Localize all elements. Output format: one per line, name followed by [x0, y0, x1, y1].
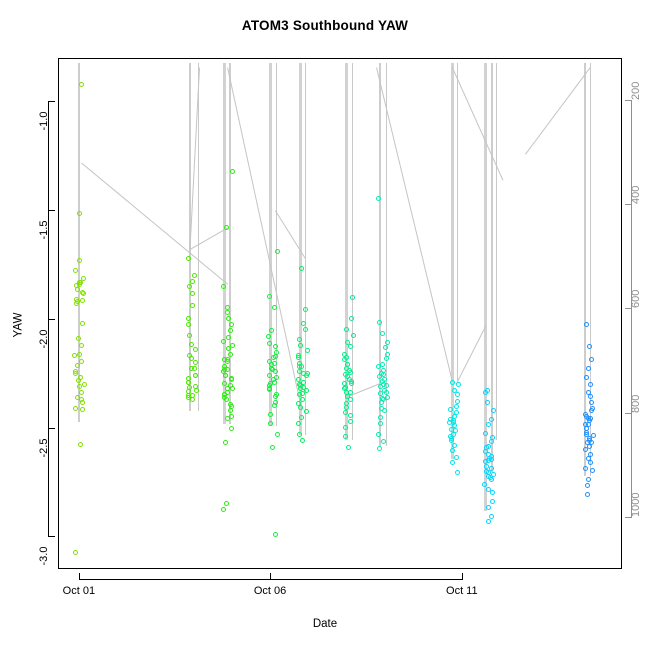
scatter-point — [275, 432, 280, 437]
scatter-point — [80, 298, 85, 303]
y-axis-right-tick-label: 400 — [616, 164, 650, 204]
scatter-point — [273, 532, 278, 537]
scatter-point — [186, 322, 191, 327]
scatter-point — [296, 355, 301, 360]
scatter-point — [348, 397, 353, 402]
scatter-point — [267, 387, 272, 392]
scatter-point — [489, 477, 494, 482]
scatter-point — [76, 378, 81, 383]
scatter-point — [223, 373, 228, 378]
scatter-point — [228, 408, 233, 413]
scatter-point — [224, 397, 229, 402]
plot-panel — [58, 58, 622, 569]
scatter-point — [272, 403, 277, 408]
scatter-point — [296, 421, 301, 426]
page-title: ATOM3 Southbound YAW — [0, 18, 650, 33]
scatter-point — [376, 432, 381, 437]
scatter-point — [299, 266, 304, 271]
scatter-point — [300, 397, 305, 402]
scatter-point — [221, 507, 226, 512]
scatter-point — [221, 339, 226, 344]
scatter-point — [586, 366, 591, 371]
scatter-point — [186, 256, 191, 261]
scatter-point — [348, 344, 353, 349]
scatter-point — [380, 331, 385, 336]
scatter-point — [76, 336, 81, 341]
scatter-point — [346, 445, 351, 450]
scatter-point — [489, 417, 494, 422]
scatter-point — [303, 327, 308, 332]
scatter-point — [590, 468, 595, 473]
scatter-point — [273, 369, 278, 374]
scatter-point — [348, 413, 353, 418]
scatter-point — [73, 268, 78, 273]
scatter-point — [585, 492, 590, 497]
scatter-point — [193, 347, 198, 352]
scatter-point — [489, 514, 494, 519]
scatter-point — [452, 443, 457, 448]
scatter-point — [230, 386, 235, 391]
y-axis-right-tick-label: 800 — [616, 373, 650, 413]
scatter-point — [448, 407, 453, 412]
scatter-point — [485, 400, 490, 405]
scatter-point — [490, 499, 495, 504]
scatter-point — [378, 391, 383, 396]
scatter-point — [271, 355, 276, 360]
scatter-point — [455, 392, 460, 397]
scatter-point — [75, 287, 80, 292]
chart-root: ATOM3 Southbound YAW YAW Date -1.0-1.5-2… — [0, 0, 650, 650]
scatter-point — [229, 377, 234, 382]
scatter-point — [377, 374, 382, 379]
scatter-point — [343, 425, 348, 430]
scatter-point — [383, 345, 388, 350]
scatter-point — [225, 367, 230, 372]
scatter-point — [73, 406, 78, 411]
scatter-point — [350, 295, 355, 300]
scatter-point — [300, 438, 305, 443]
y-axis-tick-label: -2.0 — [24, 319, 64, 359]
scatter-point — [80, 407, 85, 412]
scatter-point — [305, 348, 310, 353]
scatter-point — [78, 442, 83, 447]
scatter-point — [273, 394, 278, 399]
scatter-point — [583, 466, 588, 471]
y-axis-right-tick-label: 1000 — [616, 477, 650, 517]
scatter-point — [74, 301, 79, 306]
x-axis-tick — [79, 573, 80, 580]
scatter-point — [455, 470, 460, 475]
scatter-point — [77, 384, 82, 389]
y-axis-right-tick-label: 200 — [616, 60, 650, 100]
scatter-point — [489, 439, 494, 444]
scatter-point — [584, 322, 589, 327]
scatter-point — [226, 335, 231, 340]
scatter-point — [379, 400, 384, 405]
y-axis-right-tick — [625, 204, 632, 205]
scatter-point — [377, 320, 382, 325]
scatter-point — [194, 388, 199, 393]
scatter-point — [224, 225, 229, 230]
scatter-point — [225, 310, 230, 315]
scatter-point — [589, 408, 594, 413]
scatter-point — [221, 284, 226, 289]
scatter-point — [80, 321, 85, 326]
scatter-point — [82, 382, 87, 387]
scatter-point — [304, 409, 309, 414]
x-axis-title: Date — [0, 618, 650, 630]
scatter-point — [267, 341, 272, 346]
scatter-point — [190, 303, 195, 308]
scatter-point — [226, 316, 231, 321]
y-axis-tick-label: -1.0 — [24, 101, 64, 141]
scatter-point — [187, 333, 192, 338]
scatter-point — [192, 273, 197, 278]
scatter-point — [376, 196, 381, 201]
scatter-point — [454, 455, 459, 460]
scatter-point — [454, 404, 459, 409]
scatter-point — [190, 397, 195, 402]
scatter-point — [75, 363, 80, 368]
scatter-point — [186, 316, 191, 321]
y-axis-tick-label: -1.5 — [24, 210, 64, 250]
scatter-point — [193, 360, 198, 365]
x-axis-tick-label: Oct 01 — [39, 585, 119, 597]
scatter-point — [297, 337, 302, 342]
y-axis-right-tick-label: 600 — [616, 268, 650, 308]
x-axis-tick-label: Oct 11 — [422, 585, 502, 597]
scatter-point — [193, 373, 198, 378]
scatter-point — [187, 284, 192, 289]
scatter-point — [589, 400, 594, 405]
scatter-point — [303, 307, 308, 312]
scatter-point — [589, 357, 594, 362]
scatter-point — [79, 82, 84, 87]
x-axis-tick-label: Oct 06 — [230, 585, 310, 597]
scatter-point — [225, 416, 230, 421]
scatter-point — [72, 353, 77, 358]
scatter-point — [298, 343, 303, 348]
scatter-point — [304, 373, 309, 378]
scatter-point — [344, 327, 349, 332]
scatter-point — [377, 446, 382, 451]
scatter-point — [382, 408, 387, 413]
scatter-point — [349, 316, 354, 321]
scatter-point — [267, 294, 272, 299]
scatter-point — [456, 382, 461, 387]
scatter-point — [378, 421, 383, 426]
x-axis-tick — [270, 573, 271, 580]
scatter-point — [450, 380, 455, 385]
y-axis-title: YAW — [12, 313, 24, 338]
scatter-point — [384, 356, 389, 361]
scatter-point — [486, 422, 491, 427]
scatter-point — [226, 346, 231, 351]
scatter-point — [229, 322, 234, 327]
scatter-point — [272, 305, 277, 310]
scatter-point — [81, 291, 86, 296]
scatter-point — [584, 375, 589, 380]
scatter-point — [77, 352, 82, 357]
scatter-point — [275, 249, 280, 254]
x-axis-tick — [462, 573, 463, 580]
scatter-point — [588, 382, 593, 387]
scatter-point — [486, 505, 491, 510]
scatter-point — [587, 444, 592, 449]
scatter-point — [79, 390, 84, 395]
scatter-point — [583, 447, 588, 452]
scatter-point — [450, 448, 455, 453]
scatter-point — [229, 426, 234, 431]
scatter-point — [80, 400, 85, 405]
scatter-point — [588, 460, 593, 465]
scatter-point — [378, 415, 383, 420]
scatter-point — [491, 408, 496, 413]
scatter-point — [189, 342, 194, 347]
scatter-point — [490, 490, 495, 495]
scatter-point-layer — [59, 59, 621, 568]
scatter-point — [268, 421, 273, 426]
scatter-point — [297, 432, 302, 437]
scatter-point — [270, 445, 275, 450]
scatter-point — [190, 291, 195, 296]
scatter-point — [269, 328, 274, 333]
scatter-point — [299, 415, 304, 420]
scatter-point — [228, 328, 233, 333]
scatter-point — [298, 405, 303, 410]
scatter-point — [228, 352, 233, 357]
scatter-point — [268, 412, 273, 417]
scatter-point — [483, 431, 488, 436]
scatter-point — [223, 440, 228, 445]
scatter-point — [343, 434, 348, 439]
scatter-point — [586, 477, 591, 482]
scatter-point — [73, 371, 78, 376]
scatter-point — [77, 258, 82, 263]
scatter-point — [585, 483, 590, 488]
scatter-point — [79, 343, 84, 348]
scatter-point — [588, 394, 593, 399]
scatter-point — [297, 392, 302, 397]
y-axis-tick-label: -3.0 — [24, 536, 64, 576]
scatter-point — [77, 211, 82, 216]
scatter-point — [483, 390, 488, 395]
y-axis-right-tick — [625, 308, 632, 309]
scatter-point — [266, 334, 271, 339]
scatter-point — [587, 344, 592, 349]
y-axis-tick-label: -2.5 — [24, 428, 64, 468]
scatter-point — [273, 344, 278, 349]
scatter-point — [351, 333, 356, 338]
scatter-point — [381, 439, 386, 444]
scatter-point — [349, 381, 354, 386]
scatter-point — [224, 501, 229, 506]
scatter-point — [486, 519, 491, 524]
scatter-point — [230, 169, 235, 174]
scatter-point — [301, 321, 306, 326]
scatter-point — [482, 482, 487, 487]
scatter-point — [450, 460, 455, 465]
scatter-point — [348, 419, 353, 424]
scatter-point — [73, 550, 78, 555]
